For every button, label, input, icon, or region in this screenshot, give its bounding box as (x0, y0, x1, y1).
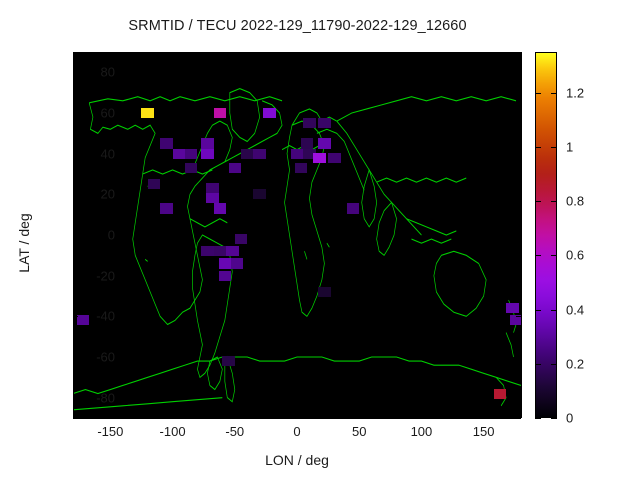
x-tick-mark-top (484, 52, 485, 57)
colorbar-tick-label: 1.2 (566, 85, 584, 100)
heatmap-cell (160, 138, 172, 148)
heatmap-cell (253, 149, 265, 159)
heatmap-cell (185, 149, 197, 159)
y-tick-mark (73, 194, 78, 195)
x-tick-mark (235, 413, 236, 418)
heatmap-cell (235, 234, 247, 244)
x-tick-mark-top (359, 52, 360, 57)
heatmap-cell (214, 246, 226, 256)
colorbar-tick-mark (535, 93, 541, 94)
y-tick-mark-right (516, 316, 521, 317)
heatmap-cell (318, 118, 330, 128)
heatmap-cell (303, 118, 315, 128)
heatmap-cell (506, 303, 518, 313)
colorbar-tick-mark-right (551, 418, 557, 419)
colorbar-tick-mark-right (551, 310, 557, 311)
heatmap-cell (318, 287, 330, 297)
y-tick-label: 80 (55, 65, 115, 80)
y-tick-label: 0 (55, 228, 115, 243)
colorbar-tick-label: 0.6 (566, 248, 584, 263)
heatmap-cell (226, 246, 238, 256)
y-tick-mark (73, 235, 78, 236)
heatmap-cell (214, 108, 226, 118)
heatmap-cell (219, 271, 231, 281)
colorbar-tick-label: 1 (566, 139, 573, 154)
colorbar-tick-mark-right (551, 147, 557, 148)
x-tick-label: 150 (444, 424, 524, 439)
y-tick-label: 40 (55, 146, 115, 161)
heatmap-cell (253, 189, 265, 199)
heatmap-cell (222, 356, 234, 366)
colorbar-tick-mark (535, 310, 541, 311)
heatmap-cell (347, 203, 359, 213)
y-tick-label: -40 (55, 309, 115, 324)
map-plot-area[interactable] (73, 52, 521, 418)
x-tick-mark (359, 413, 360, 418)
y-tick-label: 20 (55, 187, 115, 202)
heatmap-cell (141, 108, 153, 118)
heatmap-cell (231, 258, 243, 268)
heatmap-cell (148, 179, 160, 189)
colorbar-tick-mark-right (551, 364, 557, 365)
colorbar-tick-label: 0 (566, 411, 573, 426)
axis-frame-right (521, 52, 522, 418)
colorbar-tick-mark-right (551, 93, 557, 94)
x-tick-mark-top (421, 52, 422, 57)
colorbar-tick-mark-right (551, 255, 557, 256)
y-tick-mark-right (516, 357, 521, 358)
y-tick-mark-right (516, 194, 521, 195)
x-axis-label: LON / deg (73, 452, 521, 468)
colorbar-tick-mark (535, 147, 541, 148)
y-axis-label: LAT / deg (16, 183, 32, 303)
colorbar-tick-label: 0.2 (566, 356, 584, 371)
heatmap-cell (219, 258, 231, 268)
heatmap-cell (201, 246, 213, 256)
heatmap-cell (241, 149, 253, 159)
heatmap-cell (318, 138, 330, 148)
y-tick-label: 60 (55, 106, 115, 121)
y-tick-mark-right (516, 72, 521, 73)
x-tick-mark (484, 413, 485, 418)
y-tick-mark (73, 398, 78, 399)
colorbar-tick-label: 0.8 (566, 194, 584, 209)
x-tick-mark (297, 413, 298, 418)
heatmap-cell (494, 389, 506, 399)
heatmap-cell (160, 203, 172, 213)
x-tick-mark-top (297, 52, 298, 57)
heatmap-cell (328, 153, 340, 163)
heatmap-cell (301, 138, 313, 148)
colorbar-tick-mark (535, 201, 541, 202)
y-tick-label: -60 (55, 350, 115, 365)
y-tick-mark-right (516, 113, 521, 114)
colorbar-tick-mark-right (551, 201, 557, 202)
colorbar-gradient (536, 53, 556, 417)
x-tick-mark-top (173, 52, 174, 57)
heatmap-cell (185, 163, 197, 173)
x-tick-mark (110, 413, 111, 418)
heatmap-cell-layer (73, 52, 521, 418)
colorbar-tick-mark (535, 255, 541, 256)
x-tick-mark (421, 413, 422, 418)
heatmap-cell (313, 153, 325, 163)
chart-title: SRMTID / TECU 2022-129_11790-2022-129_12… (0, 18, 595, 34)
colorbar-tick-mark (535, 364, 541, 365)
heatmap-cell (229, 163, 241, 173)
heatmap-cell (291, 149, 303, 159)
heatmap-cell (201, 138, 213, 148)
y-tick-mark-right (516, 276, 521, 277)
colorbar-tick-label: 0.4 (566, 302, 584, 317)
x-tick-mark-top (235, 52, 236, 57)
y-tick-mark (73, 154, 78, 155)
heatmap-cell (214, 203, 226, 213)
y-tick-mark (73, 113, 78, 114)
axis-frame-bottom (73, 418, 521, 419)
heatmap-cell (173, 149, 185, 159)
heatmap-cell (201, 149, 213, 159)
y-tick-mark (73, 72, 78, 73)
heatmap-cell (295, 163, 307, 173)
y-tick-mark-right (516, 235, 521, 236)
heatmap-cell (206, 193, 218, 203)
figure-canvas: SRMTID / TECU 2022-129_11790-2022-129_12… (0, 0, 640, 480)
y-tick-mark (73, 276, 78, 277)
y-tick-label: -80 (55, 390, 115, 405)
x-tick-mark (173, 413, 174, 418)
x-tick-mark-top (110, 52, 111, 57)
heatmap-cell (206, 183, 218, 193)
y-tick-mark-right (516, 154, 521, 155)
colorbar-tick-mark (535, 418, 541, 419)
y-tick-label: -20 (55, 268, 115, 283)
y-tick-mark-right (516, 398, 521, 399)
heatmap-cell (263, 108, 275, 118)
y-tick-mark (73, 316, 78, 317)
y-tick-mark (73, 357, 78, 358)
